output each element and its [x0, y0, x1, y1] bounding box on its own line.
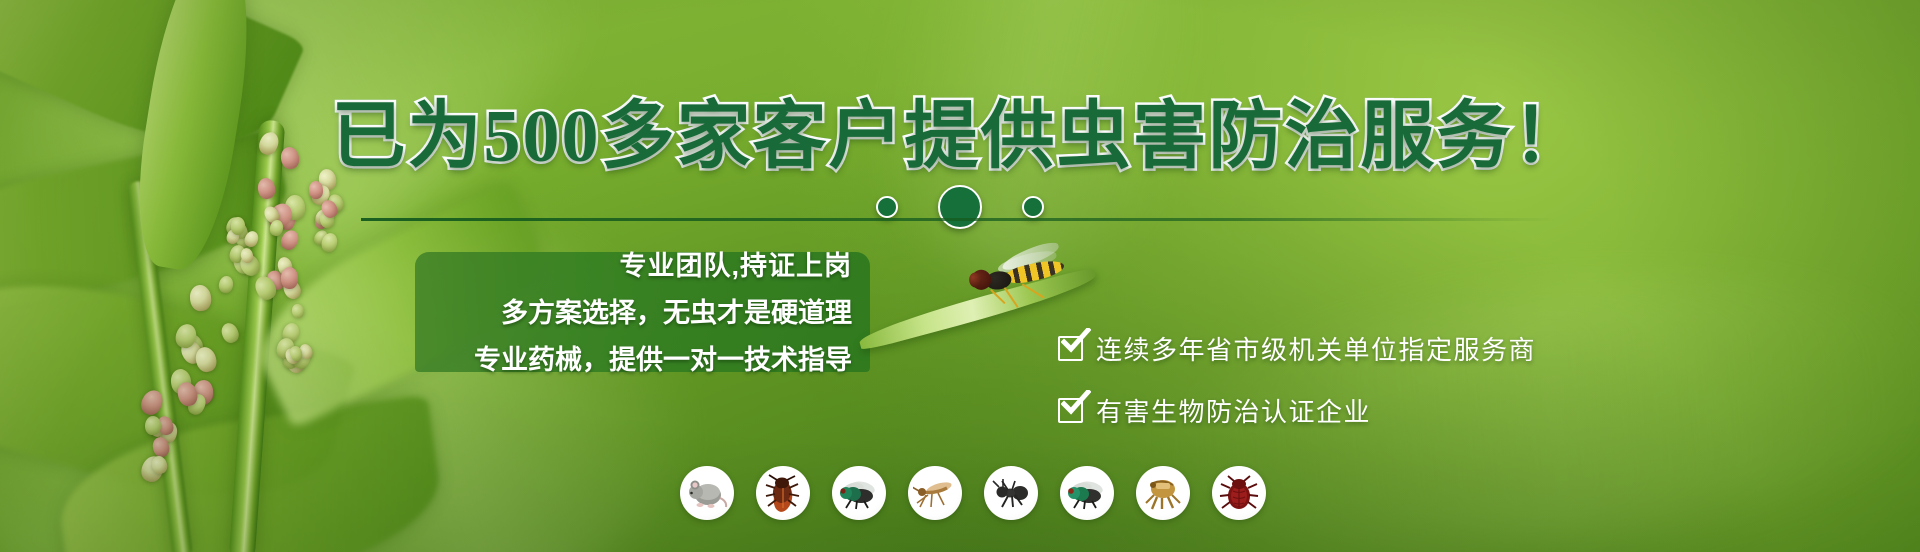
list-item: 连续多年省市级机关单位指定服务商	[1058, 330, 1536, 367]
flea-icon[interactable]	[1136, 466, 1190, 520]
blowfly-icon[interactable]	[1060, 466, 1114, 520]
credentials-list: 连续多年省市级机关单位指定服务商 有害生物防治认证企业	[1058, 330, 1536, 429]
bedbug-icon[interactable]	[1212, 466, 1266, 520]
promo-banner: 已为500多家客户提供虫害防治服务！ 专业团队,持证上岗 多方案选择，无虫才是硬…	[0, 0, 1920, 552]
cockroach-icon[interactable]	[756, 466, 810, 520]
checkbox-checked-icon	[1058, 336, 1083, 361]
mosquito-icon[interactable]	[908, 466, 962, 520]
page-title: 已为500多家客户提供虫害防治服务！	[0, 76, 1920, 183]
hoverfly-body	[960, 246, 1070, 306]
credential-label: 连续多年省市级机关单位指定服务商	[1096, 330, 1536, 367]
feature-panel: 专业团队,持证上岗 多方案选择，无虫才是硬道理 专业药械，提供一对一技术指导	[415, 252, 870, 372]
divider-rule	[361, 218, 1556, 221]
feature-line-1: 专业团队,持证上岗	[619, 253, 852, 280]
list-item: 有害生物防治认证企业	[1058, 392, 1536, 429]
decorative-dot-small-left	[876, 196, 898, 218]
fly-icon[interactable]	[832, 466, 886, 520]
decorative-dot-large-center	[938, 185, 982, 229]
decorative-dot-small-right	[1022, 196, 1044, 218]
mouse-icon[interactable]	[680, 466, 734, 520]
ant-icon[interactable]	[984, 466, 1038, 520]
pest-type-row	[680, 466, 1266, 520]
feature-line-2: 多方案选择，无虫才是硬道理	[501, 300, 852, 327]
page-title-text: 已为500多家客户提供虫害防治服务！	[332, 96, 1589, 178]
feature-line-3: 专业药械，提供一对一技术指导	[474, 347, 852, 374]
credential-label: 有害生物防治认证企业	[1096, 392, 1371, 429]
checkbox-checked-icon	[1058, 398, 1083, 423]
decorative-dots	[0, 185, 1920, 229]
